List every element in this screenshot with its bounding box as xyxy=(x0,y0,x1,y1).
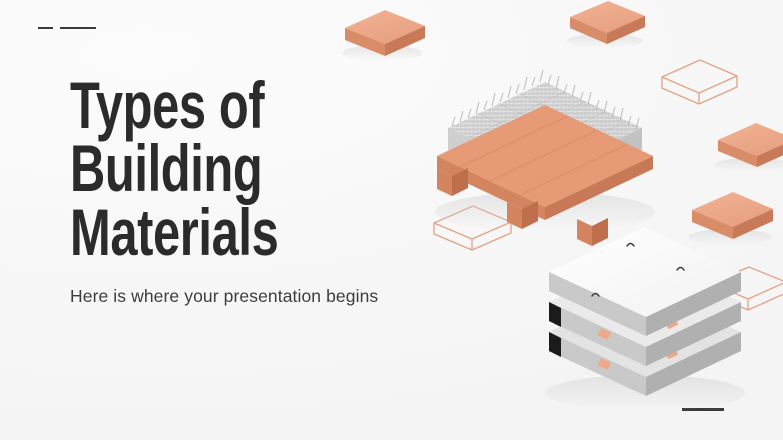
brick-solid-top-center xyxy=(342,10,425,61)
page-title: Types of Building Materials xyxy=(70,74,351,264)
brick-outline-upper-right xyxy=(662,60,737,104)
brick-solid-top-right xyxy=(567,1,645,48)
rebar-mesh-pallet xyxy=(435,70,655,246)
title-block: Types of Building Materials Here is wher… xyxy=(70,74,450,307)
presentation-slide: Types of Building Materials Here is wher… xyxy=(0,0,783,440)
brick-solid-right-edge xyxy=(714,123,783,172)
subtitle: Here is where your presentation begins xyxy=(70,286,450,307)
stacked-concrete-slabs xyxy=(545,227,745,411)
brick-solid-right-mid xyxy=(688,192,773,245)
